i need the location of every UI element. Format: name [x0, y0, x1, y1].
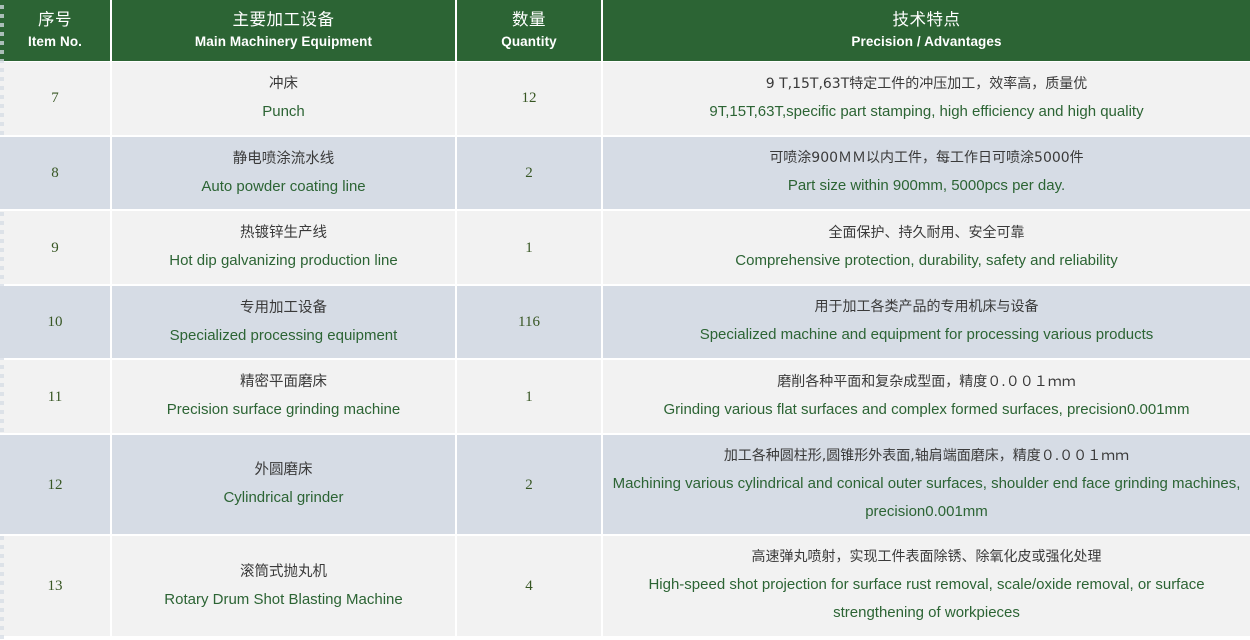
column-header-precision-cn: 技术特点 — [609, 8, 1244, 32]
cell-quantity: 2 — [456, 434, 602, 535]
equipment-name-cn: 滚筒式抛丸机 — [120, 559, 447, 586]
equipment-name-cn: 外圆磨床 — [120, 457, 447, 484]
table-header: 序号 Item No. 主要加工设备 Main Machinery Equipm… — [0, 0, 1250, 62]
column-header-item-no-cn: 序号 — [6, 8, 104, 32]
cell-description: 磨削各种平面和复杂成型面，精度０.００１ｍｍ Grinding various … — [602, 359, 1250, 434]
equipment-table: 序号 Item No. 主要加工设备 Main Machinery Equipm… — [0, 0, 1250, 638]
description-cn: 可喷涂900ＭＭ以内工件，每工作日可喷涂5000件 — [611, 146, 1242, 172]
equipment-name-en: Hot dip galvanizing production line — [120, 247, 447, 275]
item-no-value: 7 — [51, 90, 59, 106]
table-row: 10 专用加工设备 Specialized processing equipme… — [0, 285, 1250, 360]
column-header-precision: 技术特点 Precision / Advantages — [602, 0, 1250, 62]
header-row: 序号 Item No. 主要加工设备 Main Machinery Equipm… — [0, 0, 1250, 62]
column-header-precision-en: Precision / Advantages — [609, 32, 1244, 52]
description-en: Specialized machine and equipment for pr… — [611, 321, 1242, 349]
column-header-quantity-cn: 数量 — [463, 8, 595, 32]
description-cn: 用于加工各类产品的专用机床与设备 — [611, 295, 1242, 321]
cell-description: 加工各种圆柱形,圆锥形外表面,轴肩端面磨床，精度０.００１ｍｍ Machinin… — [602, 434, 1250, 535]
description-cn: 加工各种圆柱形,圆锥形外表面,轴肩端面磨床，精度０.００１ｍｍ — [611, 444, 1242, 470]
quantity-value: 116 — [518, 314, 540, 330]
table-row: 13 滚筒式抛丸机 Rotary Drum Shot Blasting Mach… — [0, 535, 1250, 636]
equipment-name-en: Specialized processing equipment — [120, 322, 447, 350]
cell-description: 用于加工各类产品的专用机床与设备 Specialized machine and… — [602, 285, 1250, 360]
equipment-name-en: Punch — [120, 98, 447, 126]
cell-equipment-name: 冲床 Punch — [111, 62, 456, 136]
description-en: Part size within 900mm, 5000pcs per day. — [611, 172, 1242, 200]
cell-equipment-name: 静电喷涂流水线 Auto powder coating line — [111, 136, 456, 211]
equipment-name-cn: 专用加工设备 — [120, 295, 447, 322]
cell-description: 9 T,15T,63T特定工件的冲压加工，效率高，质量优 9T,15T,63T,… — [602, 62, 1250, 136]
description-cn: 9 T,15T,63T特定工件的冲压加工，效率高，质量优 — [611, 72, 1242, 98]
cell-quantity: 1 — [456, 359, 602, 434]
cell-item-no: 13 — [0, 535, 111, 636]
cell-equipment-name: 外圆磨床 Cylindrical grinder — [111, 434, 456, 535]
column-header-equipment: 主要加工设备 Main Machinery Equipment — [111, 0, 456, 62]
cell-description: 全面保护、持久耐用、安全可靠 Comprehensive protection,… — [602, 210, 1250, 285]
column-header-item-no-en: Item No. — [6, 32, 104, 52]
description-cn: 高速弹丸喷射，实现工件表面除锈、除氧化皮或强化处理 — [611, 545, 1242, 571]
equipment-name-en: Auto powder coating line — [120, 173, 447, 201]
equipment-name-en: Cylindrical grinder — [120, 484, 447, 512]
table-row: 8 静电喷涂流水线 Auto powder coating line 2 可喷涂… — [0, 136, 1250, 211]
item-no-value: 12 — [48, 477, 63, 493]
table-row: 9 热镀锌生产线 Hot dip galvanizing production … — [0, 210, 1250, 285]
column-header-item-no: 序号 Item No. — [0, 0, 111, 62]
description-en: Comprehensive protection, durability, sa… — [611, 247, 1242, 275]
description-en: 9T,15T,63T,specific part stamping, high … — [611, 98, 1242, 126]
equipment-name-cn: 静电喷涂流水线 — [120, 146, 447, 173]
description-cn: 全面保护、持久耐用、安全可靠 — [611, 221, 1242, 247]
column-header-quantity-en: Quantity — [463, 32, 595, 52]
cell-item-no: 10 — [0, 285, 111, 360]
cell-quantity: 4 — [456, 535, 602, 636]
column-header-quantity: 数量 Quantity — [456, 0, 602, 62]
item-no-value: 10 — [48, 314, 63, 330]
cell-equipment-name: 精密平面磨床 Precision surface grinding machin… — [111, 359, 456, 434]
equipment-name-en: Rotary Drum Shot Blasting Machine — [120, 586, 447, 614]
item-no-value: 13 — [48, 578, 63, 594]
description-en: High-speed shot projection for surface r… — [611, 571, 1242, 627]
table-body: 7 冲床 Punch 12 9 T,15T,63T特定工件的冲压加工，效率高，质… — [0, 62, 1250, 637]
description-en: Machining various cylindrical and conica… — [611, 470, 1242, 526]
description-cn: 磨削各种平面和复杂成型面，精度０.００１ｍｍ — [611, 370, 1242, 396]
quantity-value: 1 — [525, 240, 533, 256]
cell-quantity: 116 — [456, 285, 602, 360]
quantity-value: 12 — [522, 90, 537, 106]
table-row: 7 冲床 Punch 12 9 T,15T,63T特定工件的冲压加工，效率高，质… — [0, 62, 1250, 136]
cell-quantity: 2 — [456, 136, 602, 211]
equipment-name-cn: 精密平面磨床 — [120, 369, 447, 396]
cell-item-no: 8 — [0, 136, 111, 211]
cell-item-no: 12 — [0, 434, 111, 535]
column-header-equipment-cn: 主要加工设备 — [118, 8, 449, 32]
item-no-value: 11 — [48, 389, 62, 405]
table-row: 11 精密平面磨床 Precision surface grinding mac… — [0, 359, 1250, 434]
cell-equipment-name: 专用加工设备 Specialized processing equipment — [111, 285, 456, 360]
equipment-name-en: Precision surface grinding machine — [120, 396, 447, 424]
quantity-value: 2 — [525, 477, 533, 493]
cell-equipment-name: 热镀锌生产线 Hot dip galvanizing production li… — [111, 210, 456, 285]
cell-equipment-name: 滚筒式抛丸机 Rotary Drum Shot Blasting Machine — [111, 535, 456, 636]
cell-item-no: 11 — [0, 359, 111, 434]
item-no-value: 8 — [51, 165, 59, 181]
description-en: Grinding various flat surfaces and compl… — [611, 396, 1242, 424]
equipment-name-cn: 冲床 — [120, 71, 447, 98]
equipment-name-cn: 热镀锌生产线 — [120, 220, 447, 247]
quantity-value: 2 — [525, 165, 533, 181]
table-row: 12 外圆磨床 Cylindrical grinder 2 加工各种圆柱形,圆锥… — [0, 434, 1250, 535]
cell-description: 高速弹丸喷射，实现工件表面除锈、除氧化皮或强化处理 High-speed sho… — [602, 535, 1250, 636]
cell-item-no: 7 — [0, 62, 111, 136]
cell-quantity: 1 — [456, 210, 602, 285]
cell-description: 可喷涂900ＭＭ以内工件，每工作日可喷涂5000件 Part size with… — [602, 136, 1250, 211]
quantity-value: 1 — [525, 389, 533, 405]
equipment-table-sheet: 序号 Item No. 主要加工设备 Main Machinery Equipm… — [0, 0, 1250, 640]
quantity-value: 4 — [525, 578, 533, 594]
column-header-equipment-en: Main Machinery Equipment — [118, 32, 449, 52]
item-no-value: 9 — [51, 240, 59, 256]
cell-quantity: 12 — [456, 62, 602, 136]
cell-item-no: 9 — [0, 210, 111, 285]
